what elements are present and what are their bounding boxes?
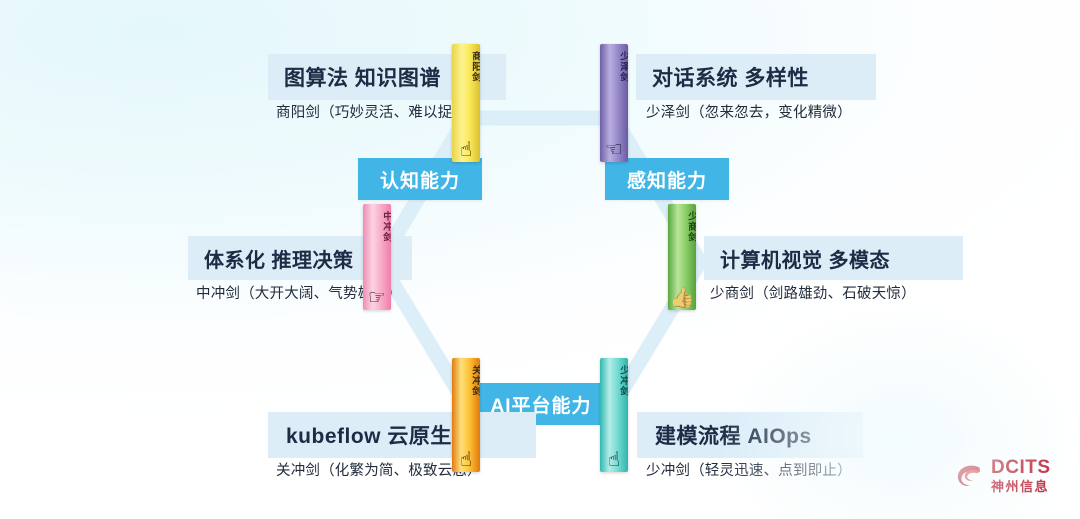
sword-label: 少商剑 [668, 211, 696, 243]
node-subtitle-graph-algo: 商阳剑（巧妙灵活、难以捉摸） [276, 101, 482, 122]
pointing-up-hand-icon: ☝ [600, 450, 628, 470]
dcits-swoosh-icon [955, 461, 985, 491]
node-title-text: 建模流程 AIOps [655, 420, 812, 450]
node-subtitle-modeling-aiops: 少冲剑（轻灵迅速、点到即止） [646, 459, 852, 480]
sword-label: 中冲剑 [363, 211, 391, 243]
capability-pill-perceptive[interactable]: 感知能力 [605, 158, 729, 200]
node-title-modeling-aiops[interactable]: 建模流程 AIOps [637, 412, 863, 458]
node-title-text: 计算机视觉 多模态 [720, 244, 890, 273]
node-title-text: 体系化 推理决策 [204, 244, 354, 273]
sword-pillar-shaochong[interactable]: 少冲剑 ☝ [600, 358, 628, 472]
logo-text: DCITS 神州信息 [991, 458, 1051, 493]
node-title-text: 图算法 知识图谱 [284, 62, 441, 92]
node-subtitle-kubeflow-cloudnative: 关冲剑（化繁为简、极致云态） [276, 459, 482, 480]
capability-label: 认知能力 [380, 166, 460, 193]
capability-pill-cognitive[interactable]: 认知能力 [358, 158, 482, 200]
pointing-up-hand-icon: ☝ [452, 140, 480, 160]
node-title-text: 对话系统 多样性 [652, 62, 809, 92]
node-title-kubeflow-cloudnative[interactable]: kubeflow 云原生 [268, 412, 536, 458]
pointing-left-hand-icon: ☜ [600, 140, 628, 160]
sword-pillar-shaoze[interactable]: 少泽剑 ☜ [600, 44, 628, 162]
sword-label: 少泽剑 [600, 51, 628, 83]
sword-pillar-shaoshang[interactable]: 少商剑 👍 [668, 204, 696, 310]
thumbs-up-hand-icon: 👍 [668, 288, 696, 308]
slide-canvas: 认知能力 感知能力 AI平台能力 图算法 知识图谱 商阳剑（巧妙灵活、难以捉摸）… [0, 0, 1080, 519]
sword-label: 少冲剑 [600, 365, 628, 397]
company-logo: DCITS 神州信息 [955, 458, 1051, 493]
node-subtitle-computer-vision: 少商剑（剑路雄劲、石破天惊） [710, 282, 916, 303]
node-title-computer-vision[interactable]: 计算机视觉 多模态 [704, 236, 963, 280]
logo-name-cn: 神州信息 [991, 480, 1051, 493]
pointing-right-hand-icon: ☞ [363, 288, 391, 308]
sword-label: 关冲剑 [452, 365, 480, 397]
sword-label: 商阳剑 [452, 51, 480, 83]
logo-name-en: DCITS [991, 458, 1051, 477]
node-title-text: kubeflow 云原生 [286, 420, 452, 450]
pointing-up-hand-icon: ☝ [452, 450, 480, 470]
capability-label: 感知能力 [627, 166, 707, 193]
sword-pillar-shangyang[interactable]: 商阳剑 ☝ [452, 44, 480, 162]
node-title-dialogue-system[interactable]: 对话系统 多样性 [636, 54, 876, 100]
node-subtitle-dialogue-system: 少泽剑（忽来忽去，变化精微） [646, 101, 852, 122]
sword-pillar-zhongchong[interactable]: 中冲剑 ☞ [363, 204, 391, 310]
sword-pillar-guanchong[interactable]: 关冲剑 ☝ [452, 358, 480, 472]
